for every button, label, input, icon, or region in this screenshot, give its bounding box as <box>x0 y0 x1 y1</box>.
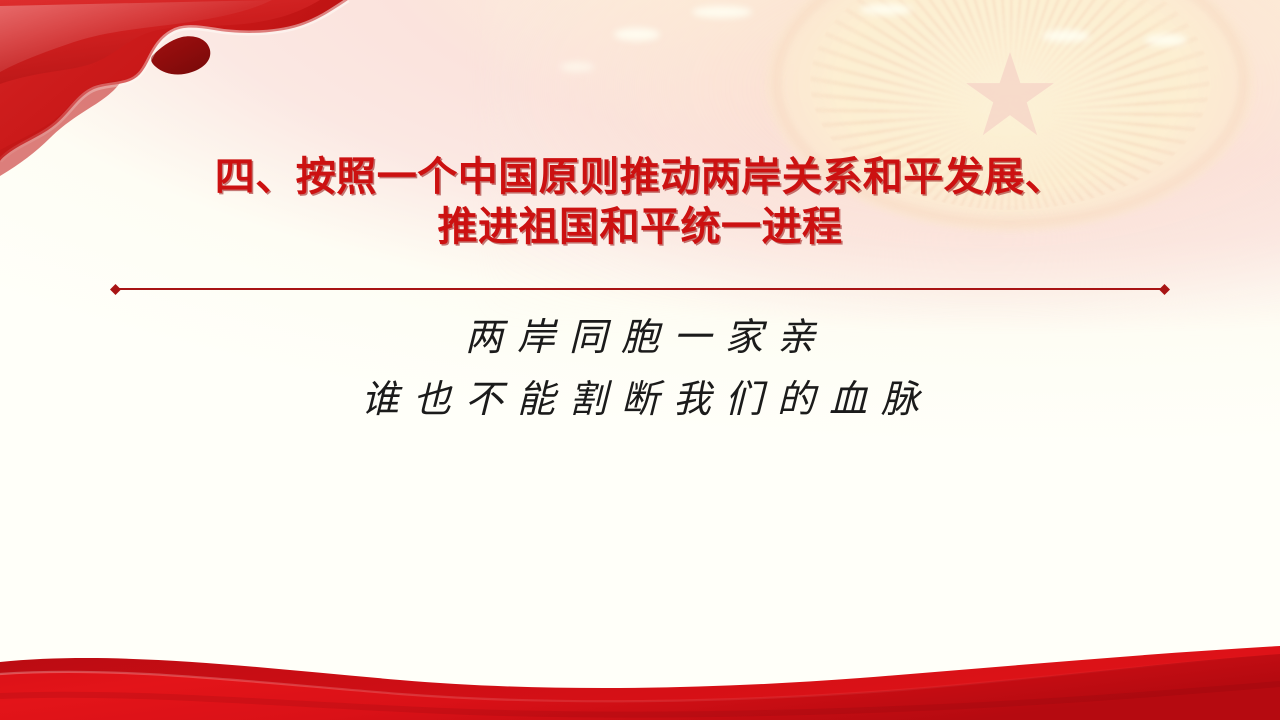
divider-rule <box>116 288 1164 290</box>
calligraphy-line-1: 两岸同胞一家亲 <box>0 306 1280 368</box>
diamond-end-divider-icon <box>110 283 1170 295</box>
presentation-slide: 四、按照一个中国原则推动两岸关系和平发展、 推进祖国和平统一进程 两岸同胞一家亲… <box>0 0 1280 720</box>
calligraphy-line-2: 谁也不能割断我们的血脉 <box>0 368 1280 430</box>
divider-diamond-right <box>1159 284 1170 295</box>
title-line-1: 四、按照一个中国原则推动两岸关系和平发展、 <box>0 152 1280 202</box>
calligraphy-quote: 两岸同胞一家亲 谁也不能割断我们的血脉 <box>0 306 1280 430</box>
slide-title: 四、按照一个中国原则推动两岸关系和平发展、 推进祖国和平统一进程 <box>0 152 1280 252</box>
title-line-2: 推进祖国和平统一进程 <box>0 202 1280 252</box>
red-wave-icon <box>0 610 1280 720</box>
